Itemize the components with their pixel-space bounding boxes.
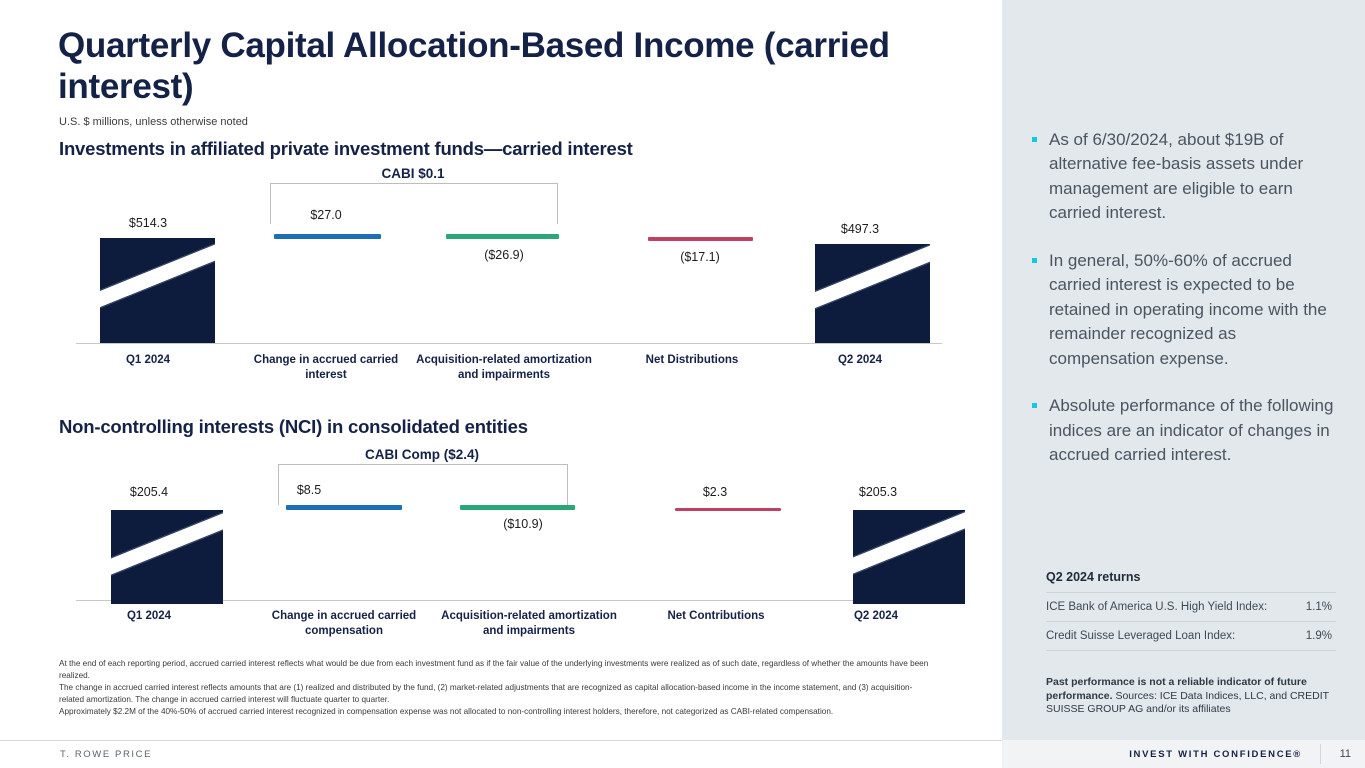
chart1-xlabel-q2-2024: Q2 2024 (771, 353, 949, 368)
axis-break-icon (815, 244, 930, 316)
q2-returns-table: Q2 2024 returns ICE Bank of America U.S.… (1046, 570, 1336, 651)
chart1-column-net-distributions: ($17.1) Net Distributions (593, 165, 771, 395)
table-row: Credit Suisse Leveraged Loan Index: 1.9% (1046, 622, 1336, 651)
chart2-xlabel-change-accrued-comp: Change in accrued carried compensation (251, 609, 437, 639)
footer-brand-tagline: INVEST WITH CONFIDENCE® (1129, 749, 1302, 760)
slide-main-content: Quarterly Capital Allocation-Based Incom… (0, 0, 1002, 768)
sidebar-panel: As of 6/30/2024, about $19B of alternati… (1002, 0, 1365, 740)
chart1-value-label-q1-2024: $514.3 (59, 216, 237, 230)
sidebar-bullet-text: Absolute performance of the following in… (1049, 394, 1337, 467)
footnote-3: Approximately $2.2M of the 40%-50% of ac… (59, 706, 937, 718)
chart1-xlabel-change-accrued: Change in accrued carried interest (232, 353, 420, 383)
bullet-square-icon (1032, 137, 1037, 142)
sidebar-bullet-item: Absolute performance of the following in… (1032, 394, 1337, 467)
chart2-value-label-q1-2024: $205.4 (56, 485, 242, 499)
chart2-xlabel-net-contributions: Net Contributions (623, 609, 809, 624)
returns-row-label: ICE Bank of America U.S. High Yield Inde… (1046, 601, 1267, 613)
chart1-value-label-change-accrued: $27.0 (237, 208, 415, 222)
footnote-2: The change in accrued carried interest r… (59, 682, 937, 706)
chart2-column-acquisition: ($10.9) Acquisition-related amortization… (431, 445, 617, 665)
chart1-connector-change-accrued (274, 234, 381, 239)
footer-page-divider (1320, 744, 1321, 764)
chart1-xlabel-acquisition: Acquisition-related amortization and imp… (410, 353, 598, 383)
chart2-column-change-accrued-comp: $8.5 Change in accrued carried compensat… (245, 445, 431, 665)
bullet-square-icon (1032, 403, 1037, 408)
returns-row-value: 1.1% (1306, 601, 1336, 613)
chart1-column-change-accrued: $27.0 Change in accrued carried interest (237, 165, 415, 395)
chart2-column-net-contributions: $2.3 Net Contributions (617, 445, 803, 665)
sidebar-bullet-item: In general, 50%-60% of accrued carried i… (1032, 249, 1337, 371)
chart1-connector-net-distributions (648, 237, 753, 241)
chart2-xlabel-acquisition: Acquisition-related amortization and imp… (436, 609, 622, 639)
chart1-value-label-net-distributions: ($17.1) (611, 250, 789, 264)
footnote-1: At the end of each reporting period, acc… (59, 658, 937, 682)
returns-table-title: Q2 2024 returns (1046, 570, 1336, 593)
waterfall-chart-nci: CABI Comp ($2.4) $205.4 Q1 2024 $8.5 Cha… (59, 445, 939, 665)
axis-break-icon (853, 510, 965, 582)
chart2-value-label-change-accrued-comp: $8.5 (216, 483, 402, 497)
page-number: 11 (1340, 748, 1351, 760)
units-subtitle: U.S. $ millions, unless otherwise noted (59, 116, 248, 128)
returns-row-value: 1.9% (1306, 630, 1336, 642)
chart1-bar-q2-2024 (815, 244, 930, 343)
sidebar-bullet-item: As of 6/30/2024, about $19B of alternati… (1032, 128, 1337, 226)
chart1-column-q1-2024: $514.3 Q1 2024 (59, 165, 237, 395)
chart1-xlabel-net-distributions: Net Distributions (603, 353, 781, 368)
sidebar-bullet-text: In general, 50%-60% of accrued carried i… (1049, 249, 1337, 371)
chart1-connector-acquisition (446, 234, 559, 239)
sidebar-bullet-text: As of 6/30/2024, about $19B of alternati… (1049, 128, 1337, 226)
chart2-column-q1-2024: $205.4 Q1 2024 (59, 445, 245, 665)
page-title: Quarterly Capital Allocation-Based Incom… (58, 26, 938, 107)
section-heading-nci: Non-controlling interests (NCI) in conso… (59, 416, 528, 438)
chart2-connector-change-accrued-comp (286, 505, 402, 510)
axis-break-icon (111, 510, 223, 583)
section-heading-investments: Investments in affiliated private invest… (59, 138, 633, 160)
slide-footer: T. ROWE PRICE INVEST WITH CONFIDENCE® 11 (0, 740, 1365, 768)
chart2-bar-q2-2024 (853, 510, 965, 604)
chart2-connector-net-contributions (675, 508, 781, 511)
footer-brand-left: T. ROWE PRICE (60, 749, 152, 760)
chart2-value-label-net-contributions: $2.3 (622, 485, 808, 499)
chart2-xlabel-q1-2024: Q1 2024 (56, 609, 242, 624)
returns-row-label: Credit Suisse Leveraged Loan Index: (1046, 630, 1235, 642)
chart1-column-q2-2024: $497.3 Q2 2024 (771, 165, 949, 395)
chart2-bar-q1-2024 (111, 510, 223, 604)
chart1-bar-q1-2024 (100, 238, 215, 343)
chart2-value-label-q2-2024: $205.3 (785, 485, 971, 499)
table-row: ICE Bank of America U.S. High Yield Inde… (1046, 593, 1336, 622)
footer-divider (0, 740, 1002, 741)
chart2-value-label-acquisition: ($10.9) (430, 517, 616, 531)
chart2-xlabel-q2-2024: Q2 2024 (783, 609, 969, 624)
chart1-value-label-acquisition: ($26.9) (415, 248, 593, 262)
bullet-square-icon (1032, 258, 1037, 263)
chart1-value-label-q2-2024: $497.3 (771, 222, 949, 236)
footnotes: At the end of each reporting period, acc… (59, 658, 937, 717)
chart1-column-acquisition: ($26.9) Acquisition-related amortization… (415, 165, 593, 395)
chart2-connector-acquisition (460, 505, 575, 510)
slide: Quarterly Capital Allocation-Based Incom… (0, 0, 1365, 768)
waterfall-chart-carried-interest: CABI $0.1 $514.3 Q1 2024 $27.0 Change in… (59, 165, 939, 395)
chart1-xlabel-q1-2024: Q1 2024 (59, 353, 237, 368)
sidebar-disclaimer: Past performance is not a reliable indic… (1046, 676, 1346, 717)
sidebar-bullet-list: As of 6/30/2024, about $19B of alternati… (1032, 128, 1337, 491)
chart2-column-q2-2024: $205.3 Q2 2024 (803, 445, 989, 665)
axis-break-icon (100, 238, 215, 316)
